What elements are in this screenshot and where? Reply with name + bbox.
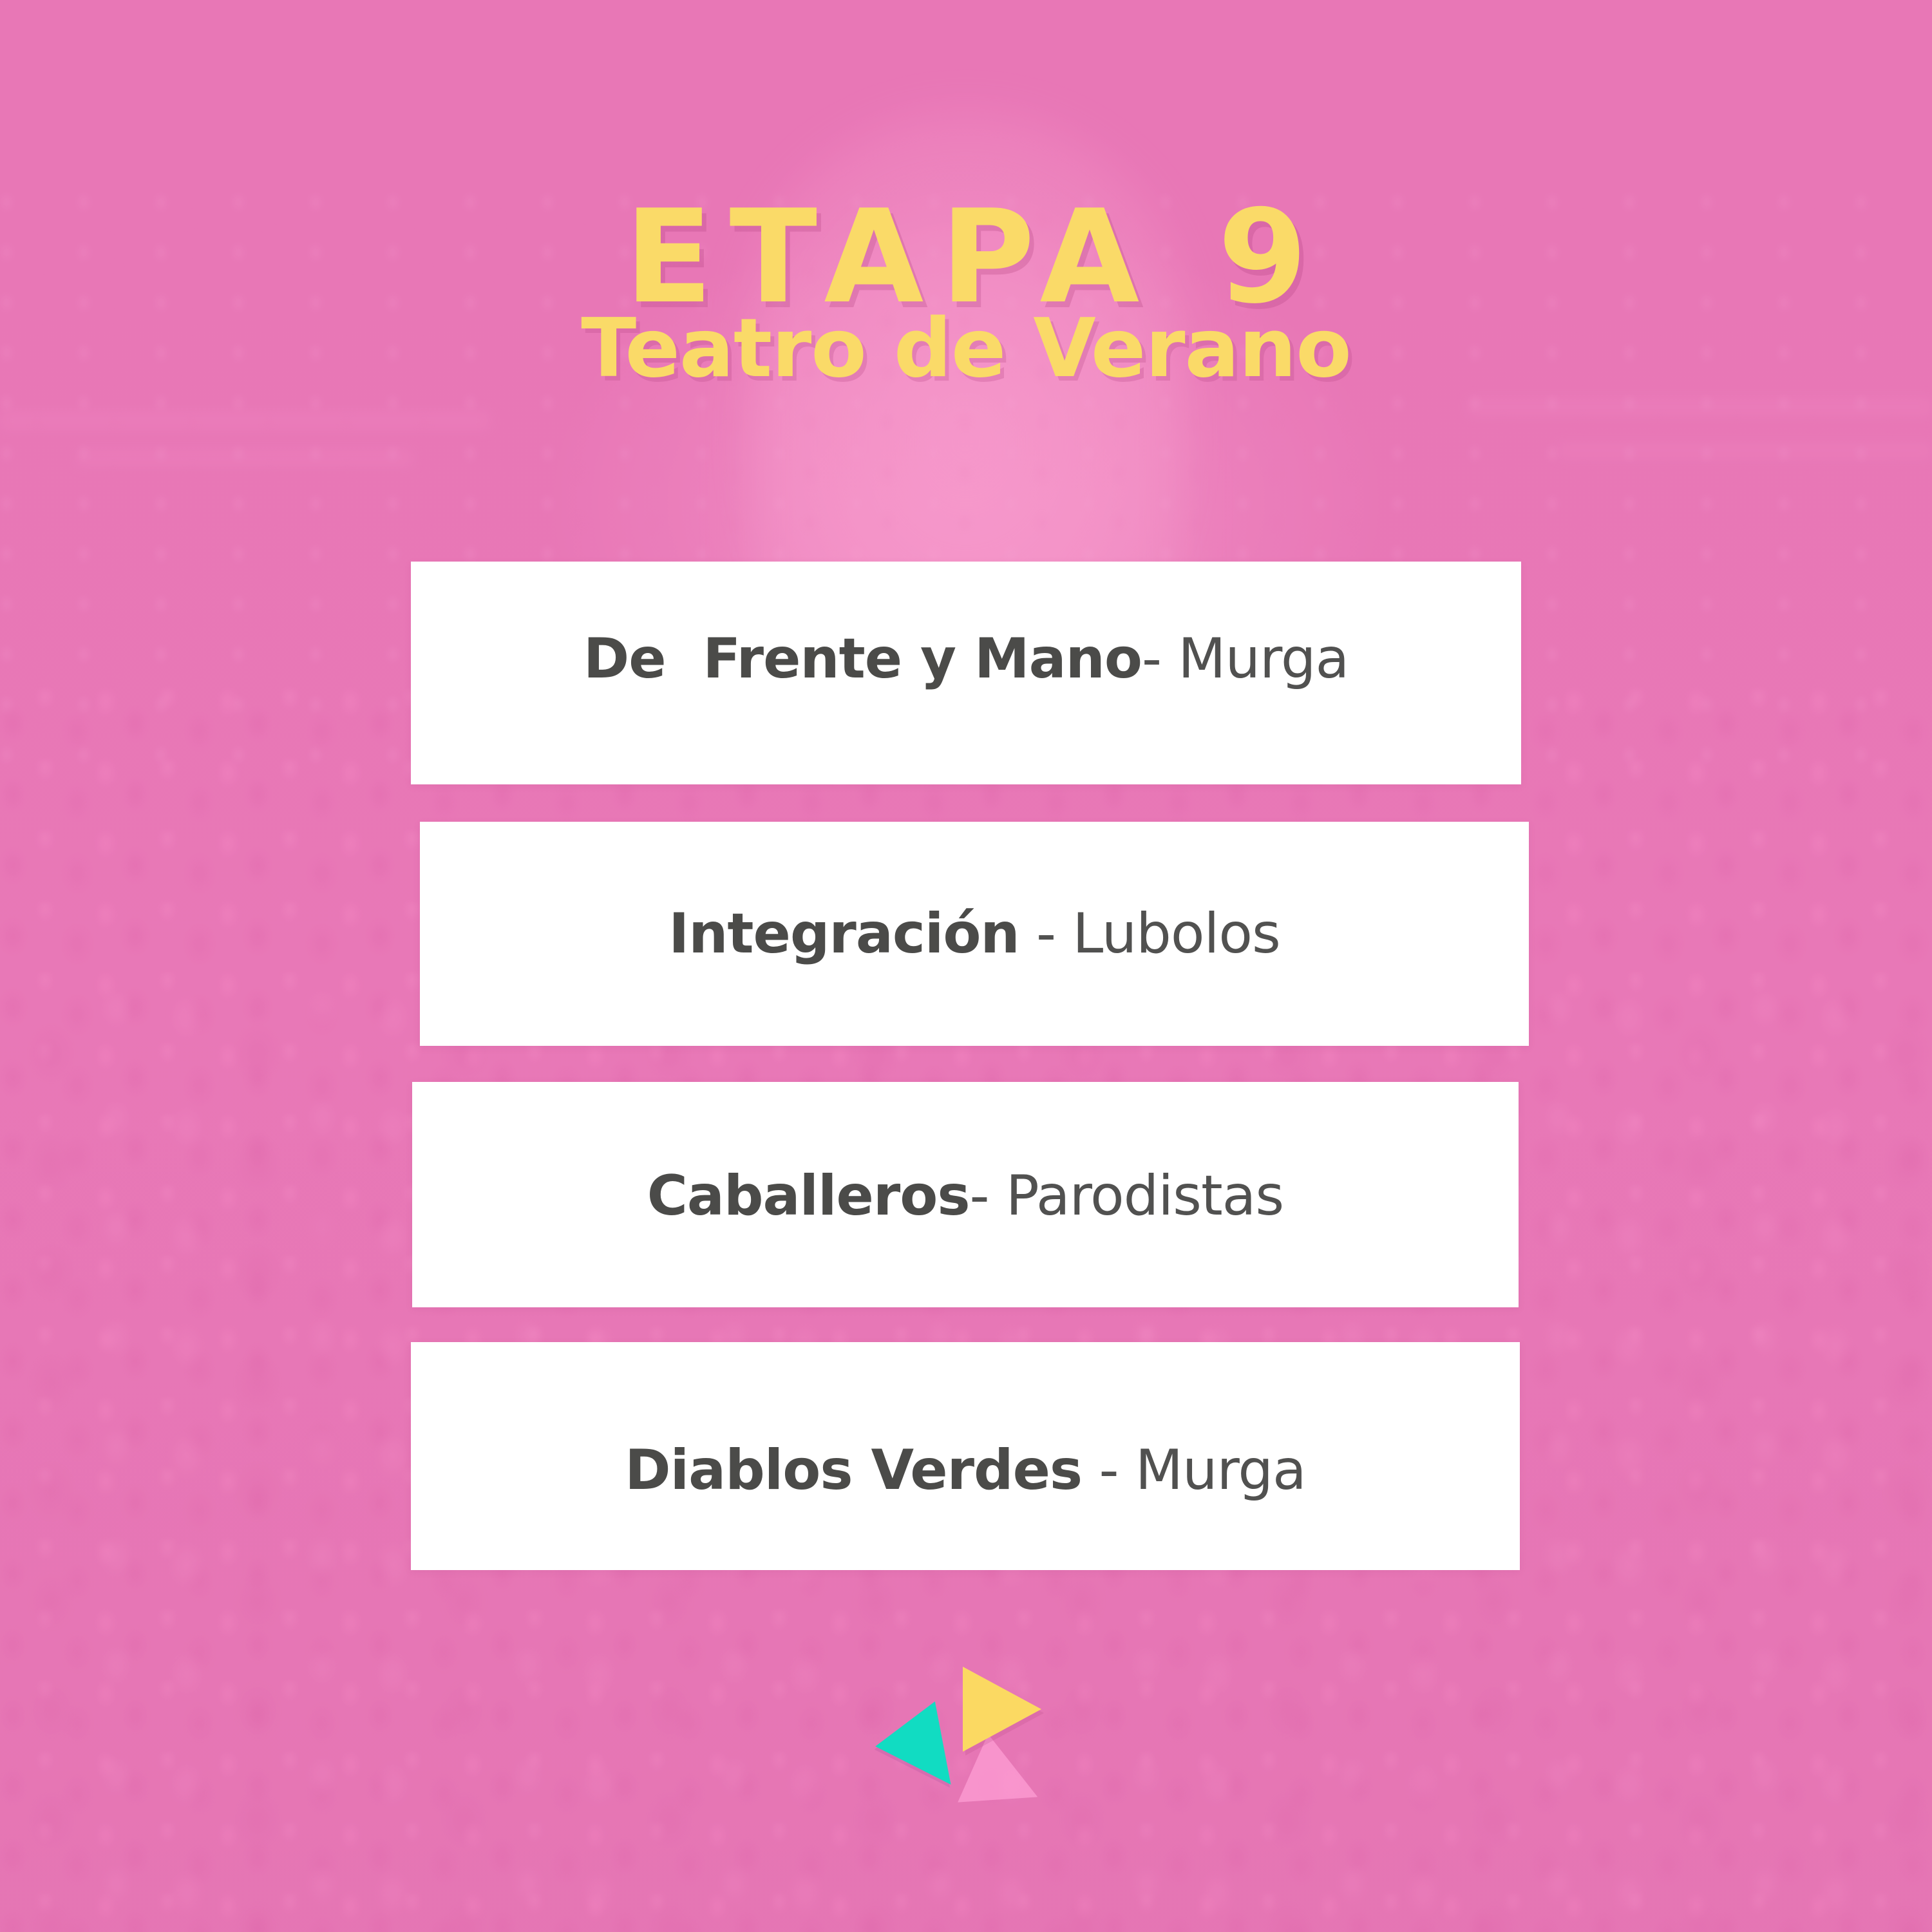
group-category: - Parodistas (970, 1164, 1284, 1228)
group-category: - Lubolos (1019, 902, 1280, 966)
group-name: Diablos Verdes (625, 1438, 1082, 1502)
lineup-entry-text: Caballeros- Parodistas (647, 1164, 1283, 1228)
group-name: Caballeros (647, 1164, 970, 1228)
poster: ETAPA 9 Teatro de Verano De Frente y Man… (0, 0, 1932, 1932)
list-item[interactable]: Caballeros- Parodistas (412, 1082, 1519, 1307)
group-category: - Murga (1142, 627, 1349, 691)
lineup-entry-text: De Frente y Mano- Murga (583, 627, 1349, 691)
list-item[interactable]: De Frente y Mano- Murga (411, 562, 1521, 784)
lineup-entry-text: Integración - Lubolos (668, 902, 1280, 966)
list-item[interactable]: Diablos Verdes - Murga (411, 1342, 1520, 1570)
lineup-entry-text: Diablos Verdes - Murga (625, 1438, 1305, 1502)
yellow-triangle-icon (963, 1667, 1041, 1752)
group-name: De Frente y Mano (583, 627, 1142, 691)
list-item[interactable]: Integración - Lubolos (420, 822, 1529, 1046)
brand-logo (857, 1655, 1088, 1887)
group-name: Integración (668, 902, 1019, 966)
group-category: - Murga (1082, 1438, 1306, 1502)
